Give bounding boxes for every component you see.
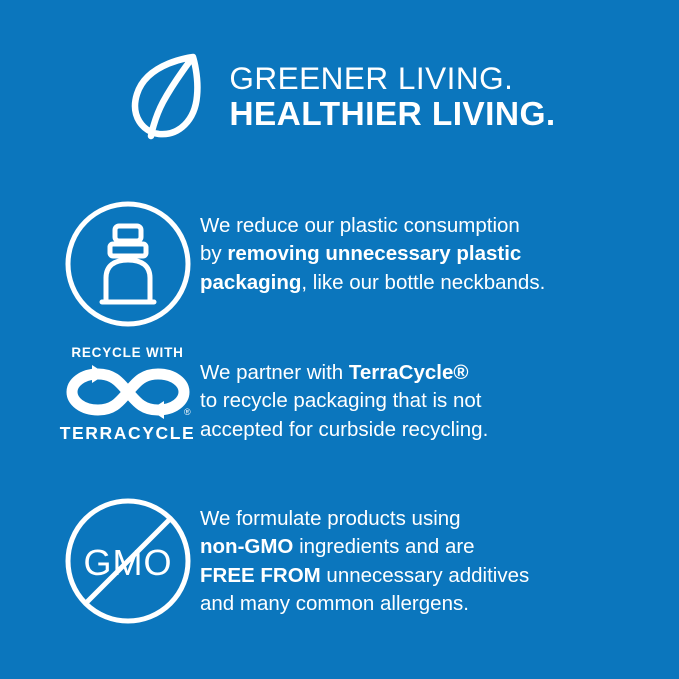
terracycle-line-1-bold: TerraCycle® [349, 361, 469, 384]
plastic-line-3-bold: packaging [200, 271, 301, 294]
feature-row-gmo-text: We formulate products using non-GMO ingr… [200, 495, 655, 618]
terracycle-badge-bottom-label: TERRACYCLE [60, 423, 196, 444]
terracycle-badge: RECYCLE WITH ® TERRACYCLE [57, 345, 199, 444]
bottle-neckband-circle-icon [55, 198, 200, 330]
terracycle-logo-icon: RECYCLE WITH ® TERRACYCLE [55, 345, 200, 444]
headline-line-1: GREENER LIVING. [229, 61, 555, 96]
leaf-icon [123, 50, 215, 146]
header-text: GREENER LIVING. HEALTHIER LIVING. [229, 61, 555, 134]
gmo-line-4: and many common allergens. [200, 592, 469, 615]
plastic-line-1: We reduce our plastic consumption [200, 214, 520, 237]
feature-row-terracycle: RECYCLE WITH ® TERRACYCLE We partner wit… [55, 345, 655, 444]
feature-row-terracycle-text: We partner with TerraCycle® to recycle p… [200, 345, 655, 444]
gmo-line-2-plain: ingredients and are [293, 535, 474, 558]
svg-text:®: ® [184, 407, 191, 417]
terracycle-badge-top-label: RECYCLE WITH [71, 345, 183, 360]
gmo-line-2-bold: non-GMO [200, 535, 293, 558]
gmo-line-3-bold: FREE FROM [200, 564, 321, 587]
gmo-line-3-plain: unnecessary additives [321, 564, 530, 587]
plastic-line-2-bold: removing unnecessary plastic [227, 242, 521, 265]
feature-row-plastic: We reduce our plastic consumption by rem… [55, 198, 655, 330]
plastic-line-2-plain: by [200, 242, 227, 265]
terracycle-line-1-plain: We partner with [200, 361, 349, 384]
headline-line-2: HEALTHIER LIVING. [229, 96, 555, 134]
header: GREENER LIVING. HEALTHIER LIVING. [0, 40, 679, 155]
feature-row-gmo: GMO We formulate products using non-GMO … [55, 495, 655, 627]
feature-row-plastic-text: We reduce our plastic consumption by rem… [200, 198, 655, 297]
infinity-recycle-icon: ® [62, 363, 194, 421]
gmo-line-1: We formulate products using [200, 507, 461, 530]
plastic-line-3-plain: , like our bottle neckbands. [301, 271, 545, 294]
no-gmo-icon: GMO [55, 495, 200, 627]
infographic-page: GREENER LIVING. HEALTHIER LIVING. We red… [0, 0, 679, 679]
terracycle-line-3: accepted for curbside recycling. [200, 418, 488, 441]
terracycle-line-2: to recycle packaging that is not [200, 389, 481, 412]
